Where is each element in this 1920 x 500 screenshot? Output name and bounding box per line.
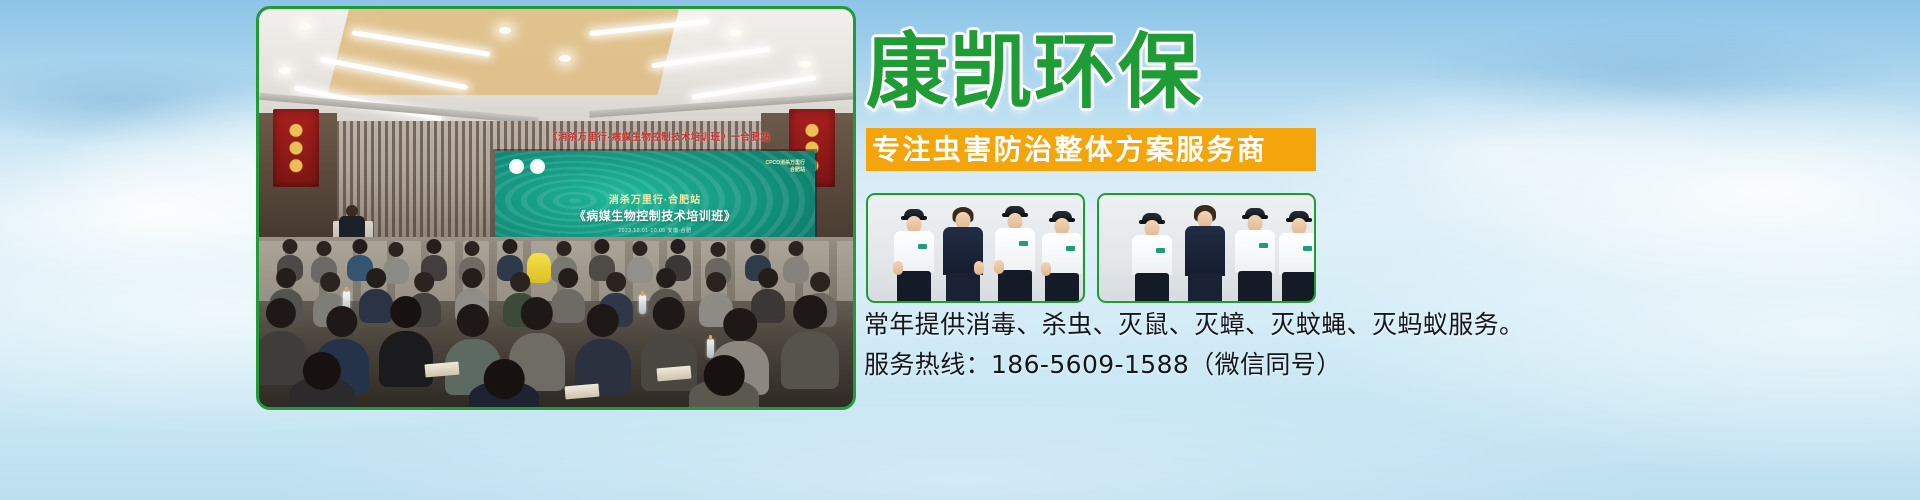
- water-bottle: [639, 295, 646, 314]
- audience-member: [783, 257, 809, 283]
- team-member: [1233, 208, 1277, 301]
- audience-member: [383, 258, 409, 284]
- conference-room-scene: 《消杀万里行-病媒生物控制技术培训班》一合肥站 CPCO消杀万里行 合肥站 消杀…: [259, 9, 853, 407]
- audience-member: [289, 377, 355, 410]
- subtitle-banner: 专注虫害防治整体方案服务商: [866, 128, 1316, 171]
- team-member: [1040, 211, 1084, 301]
- hotline-text: 服务热线：186-5609-1588（微信同号）: [864, 345, 1342, 381]
- services-text: 常年提供消毒、杀虫、灭鼠、灭蟑、灭蚊蝇、灭蚂蚁服务。: [864, 305, 1524, 341]
- conference-training-photo[interactable]: 《消杀万里行-病媒生物控制技术培训班》一合肥站 CPCO消杀万里行 合肥站 消杀…: [256, 6, 856, 410]
- audience-member: [359, 289, 393, 323]
- audience-member: [781, 331, 839, 389]
- promo-banner: 《消杀万里行-病媒生物控制技术培训班》一合肥站 CPCO消杀万里行 合肥站 消杀…: [0, 0, 1920, 500]
- team-member: [1181, 201, 1229, 301]
- team-member: [940, 203, 986, 301]
- team-member: [992, 206, 1038, 301]
- page-title: 康凯环保: [866, 32, 1202, 114]
- audience-member: [641, 333, 697, 391]
- audience-member: [689, 379, 759, 410]
- audience-member: [627, 257, 653, 283]
- team-photo-arms-crossed[interactable]: [1097, 193, 1316, 303]
- team-member: [892, 209, 936, 301]
- brand-content-column: 康凯环保 专注虫害防治整体方案服务商: [862, 0, 1862, 500]
- safety-vest-person: [527, 253, 551, 283]
- audience-member: [256, 331, 307, 385]
- team-member: [1277, 211, 1316, 301]
- audience-member: [379, 331, 433, 387]
- subtitle-text: 专注虫害防治整体方案服务商: [866, 136, 1267, 164]
- handout-paper: [564, 384, 599, 400]
- audience-member: [551, 289, 585, 323]
- team-member: [1131, 213, 1173, 301]
- audience-member: [469, 381, 539, 410]
- audience-crowd: [259, 9, 853, 407]
- team-photo-row: [866, 193, 1316, 303]
- team-photo-thumbs-up[interactable]: [866, 193, 1085, 303]
